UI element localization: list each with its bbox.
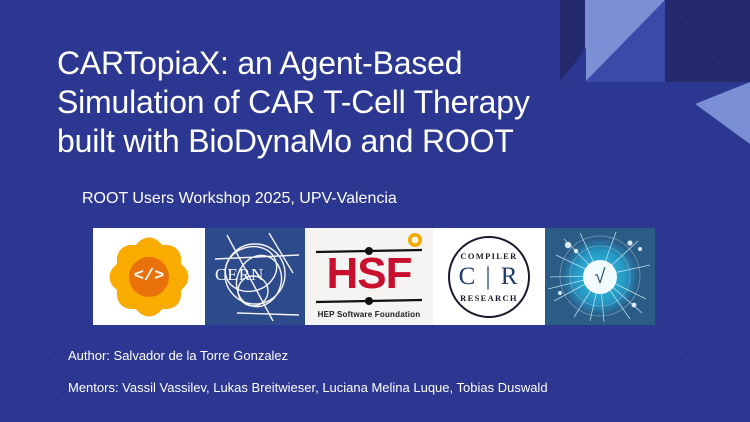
mentors-line: Mentors: Vassil Vassilev, Lukas Breitwie…	[68, 380, 548, 395]
root-logo: √	[545, 228, 655, 325]
root-sqrt-glyph: √	[583, 260, 617, 294]
title-line-2: Simulation of CAR T-Cell Therapy	[57, 83, 657, 122]
hsf-mark: HSF HEP Software Foundation	[308, 231, 430, 323]
root-particle-icon: √	[546, 229, 654, 324]
cr-top-text: COMPILER	[460, 251, 517, 261]
title-line-3: built with BioDynaMo and ROOT	[57, 122, 657, 161]
title-line-1: CARTopiaX: an Agent-Based	[57, 44, 657, 83]
hsf-logo: HSF HEP Software Foundation	[305, 228, 433, 325]
gsoc-code-glyph: </>	[129, 257, 169, 297]
cern-wordmark: CERN	[215, 265, 264, 285]
compiler-research-ring-icon: COMPILER C | R RESEARCH	[448, 236, 530, 318]
cr-mid-text: C | R	[459, 262, 520, 292]
presentation-slide: CARTopiaX: an Agent-Based Simulation of …	[0, 0, 750, 422]
logo-strip: </> CERN	[93, 228, 655, 325]
cern-accelerator-icon: CERN	[207, 229, 303, 324]
gsoc-logo: </>	[93, 228, 205, 325]
cr-bottom-text: RESEARCH	[460, 293, 518, 303]
slide-subtitle: ROOT Users Workshop 2025, UPV-Valencia	[82, 190, 397, 208]
author-line: Author: Salvador de la Torre Gonzalez	[68, 348, 288, 363]
cern-logo: CERN	[205, 228, 305, 325]
gsoc-sun-icon: </>	[109, 237, 189, 317]
slide-title: CARTopiaX: an Agent-Based Simulation of …	[57, 44, 657, 161]
decor-navy-block-right	[665, 0, 750, 82]
compiler-research-logo: COMPILER C | R RESEARCH	[433, 228, 545, 325]
